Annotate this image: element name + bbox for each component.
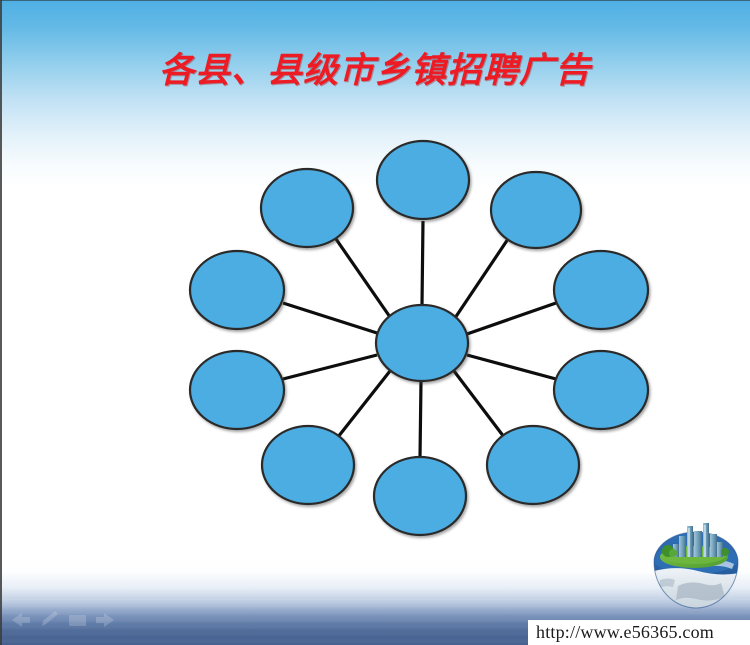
connector-lower-right [454,371,504,437]
city-skyline [673,523,723,557]
radial-diagram [0,0,750,645]
connector-right-upper [467,303,556,334]
connector-upper-left [336,239,390,317]
connector-upper-right [455,239,508,318]
nav-previous-icon[interactable] [12,613,30,627]
connector-lower-left [338,371,390,437]
node-left-lower[interactable] [190,351,284,429]
nav-pen-icon[interactable] [42,611,58,626]
connector-left-upper [283,303,377,333]
node-lower-left[interactable] [262,426,354,504]
nav-next-icon[interactable] [96,613,114,627]
connector-right-lower [467,355,556,379]
connector-bottom [420,381,421,458]
diagram-center-node-group [376,305,468,381]
node-upper-right[interactable] [491,172,581,248]
presentation-slide: 各县、县级市乡镇招聘广告 [0,0,750,645]
node-upper-left[interactable] [261,169,353,247]
connector-left-lower [283,355,377,379]
globe-city-logo [648,518,744,620]
slideshow-nav-controls[interactable] [8,609,120,631]
connector-top [422,221,423,305]
node-left-upper[interactable] [190,251,284,329]
node-lower-right[interactable] [487,426,579,504]
node-right-lower[interactable] [554,351,648,429]
node-right-upper[interactable] [554,251,648,329]
center-node[interactable] [376,305,468,381]
nav-menu-icon[interactable] [69,615,86,626]
node-top[interactable] [377,141,469,219]
watermark-bar: http://www.e56365.com [528,620,750,645]
watermark-url: http://www.e56365.com [536,622,714,643]
node-bottom[interactable] [374,457,466,535]
